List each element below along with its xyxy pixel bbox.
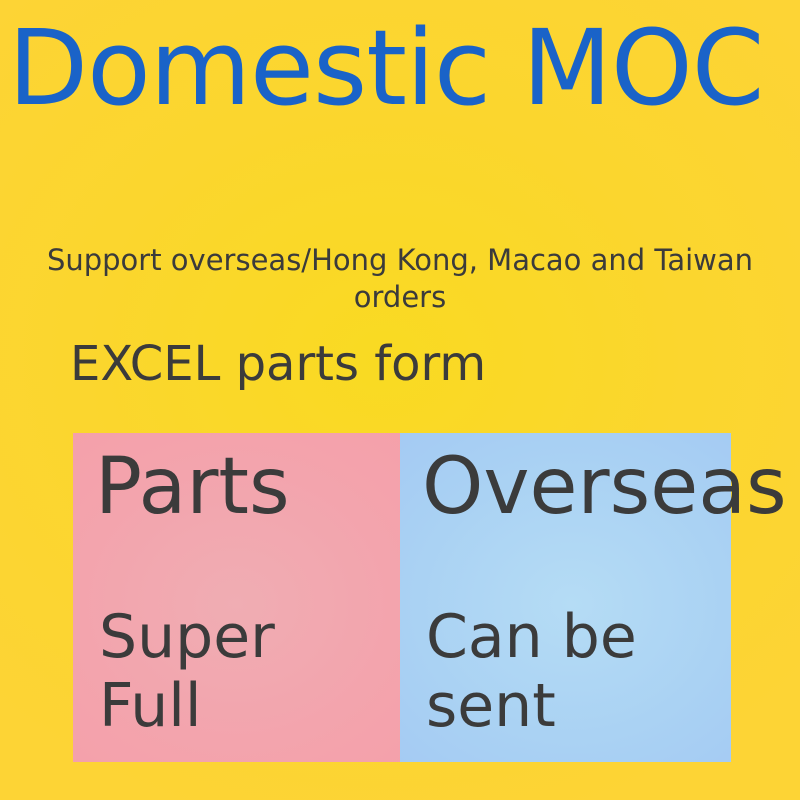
subtitle-text: Support overseas/Hong Kong, Macao and Ta… [40, 242, 760, 316]
panel-overseas-title: Overseas [422, 447, 787, 529]
poster-canvas: Domestic MOC Support overseas/Hong Kong,… [0, 0, 800, 800]
panel-parts-body: Super Full [99, 603, 275, 741]
panel-overseas-body: Can be sent [426, 603, 637, 741]
panel-parts: Parts Super Full [73, 433, 400, 762]
panel-overseas: Overseas Can be sent [400, 433, 731, 762]
panel-parts-title: Parts [95, 447, 290, 529]
page-title: Domestic MOC [8, 14, 800, 123]
section-heading-excel-parts-form: EXCEL parts form [70, 338, 486, 391]
